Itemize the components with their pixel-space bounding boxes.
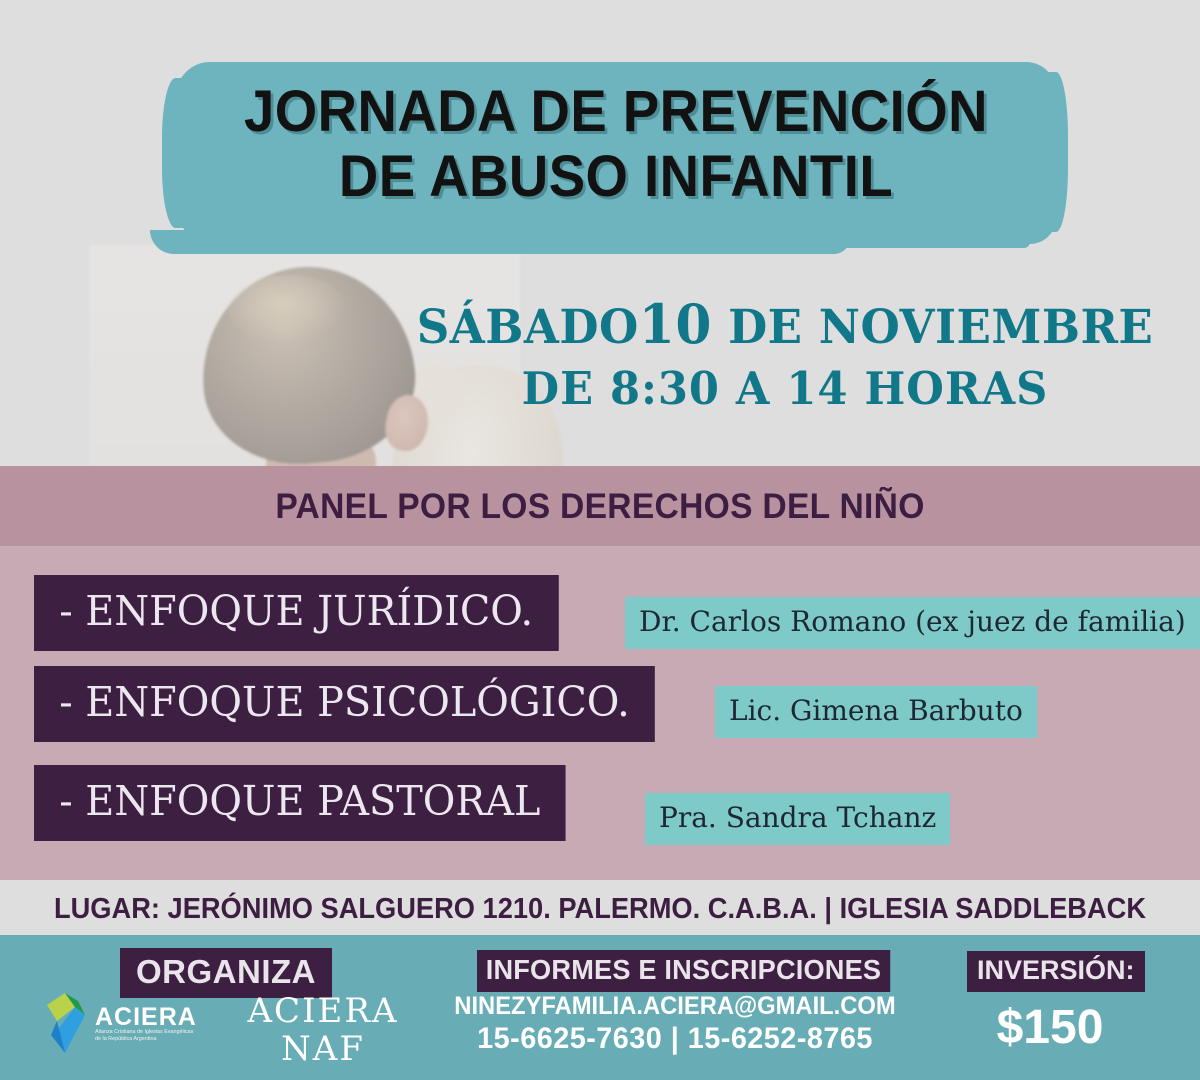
informes-label: INFORMES E INSCRIPCIONES — [477, 950, 890, 992]
title-line-2: DE ABUSO INFANTIL — [202, 145, 1029, 210]
aciera-logo-tagline: Alianza Cristiana de Iglesias Evangélica… — [95, 1029, 195, 1044]
contact-phones[interactable]: 15-6625-7630 | 15-6252-8765 — [449, 1022, 900, 1056]
event-day-number: 10 — [639, 292, 712, 356]
organizer-name: ACIERANAF — [228, 992, 418, 1068]
aciera-logo-wordmark: ACIERA — [95, 1003, 197, 1032]
panel-topic-pastoral: - ENFOQUE PASTORAL — [34, 765, 566, 841]
inversion-label: INVERSIÓN: — [967, 951, 1145, 992]
event-weekday: SÁBADO — [417, 300, 639, 355]
aciera-logo-mark-icon — [45, 983, 91, 1055]
price-value: $150 — [940, 1000, 1160, 1055]
panel-row: - ENFOQUE JURÍDICO. Dr. Carlos Romano (e… — [0, 575, 1200, 670]
panel-heading: PANEL POR LOS DERECHOS DEL NIÑO — [24, 487, 1176, 527]
venue-line: LUGAR: JERÓNIMO SALGUERO 1210. PALERMO. … — [36, 893, 1164, 926]
contact-email[interactable]: NINEZYFAMILIA.ACIERA@GMAIL.COM — [452, 992, 899, 1021]
panel-topic-psicologico: - ENFOQUE PSICOLÓGICO. — [34, 666, 655, 742]
panel-speaker-juridico: Dr. Carlos Romano (ex juez de familia) — [625, 597, 1200, 649]
event-time: DE 8:30 A 14 HORAS — [406, 364, 1164, 414]
event-month: DE NOVIEMBRE — [728, 300, 1153, 355]
header-brush-edge-right — [700, 232, 1030, 248]
panel-topic-juridico: - ENFOQUE JURÍDICO. — [34, 575, 558, 651]
event-date-line: SÁBADO10 DE NOVIEMBRE — [406, 295, 1164, 354]
panel-speaker-psicologico: Lic. Gimena Barbuto — [715, 686, 1037, 738]
photo-child-hair-highlight — [228, 275, 348, 345]
panel-row: - ENFOQUE PASTORAL Pra. Sandra Tchanz — [0, 765, 1200, 860]
poster-canvas: JORNADA DE PREVENCIÓN DE ABUSO INFANTIL … — [0, 0, 1200, 1080]
page-title: JORNADA DE PREVENCIÓN DE ABUSO INFANTIL — [202, 80, 1029, 210]
title-line-1: JORNADA DE PREVENCIÓN — [202, 80, 1029, 145]
panel-speaker-pastoral: Pra. Sandra Tchanz — [645, 793, 950, 845]
event-date-block: SÁBADO10 DE NOVIEMBRE DE 8:30 A 14 HORAS — [390, 295, 1180, 414]
panel-row: - ENFOQUE PSICOLÓGICO. Lic. Gimena Barbu… — [0, 670, 1200, 765]
aciera-logo: ACIERA Alianza Cristiana de Iglesias Eva… — [45, 985, 190, 1055]
panel-list: - ENFOQUE JURÍDICO. Dr. Carlos Romano (e… — [0, 575, 1200, 860]
